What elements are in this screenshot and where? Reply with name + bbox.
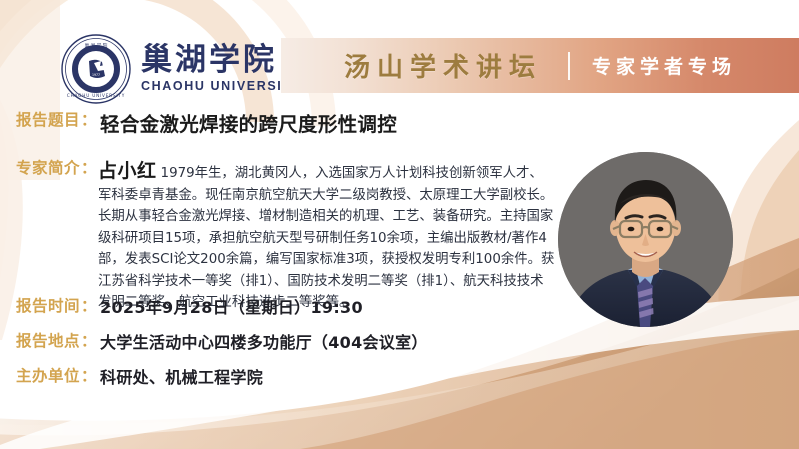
university-name-cn: 巢湖学院 xyxy=(141,45,302,76)
report-place-label: 报告地点 xyxy=(16,329,80,351)
svg-text:1977: 1977 xyxy=(92,73,100,77)
forum-banner-title: 汤山学术讲坛 xyxy=(344,47,542,84)
university-name-en: CHAOHU UNIVERSITY xyxy=(141,80,302,93)
organizer-colon: ： xyxy=(81,364,97,386)
poster-canvas: 巢 湖 学 院 CHAOHU UNIVERSITY 1977 巢湖学院 CHAO… xyxy=(0,0,799,449)
forum-banner: 汤山学术讲坛 专家学者专场 xyxy=(281,38,799,93)
report-place-row: 报告地点 ： 大学生活动中心四楼多功能厅（404会议室） xyxy=(16,329,428,353)
report-time-colon: ： xyxy=(81,294,97,316)
speaker-bio-colon: ： xyxy=(81,156,97,178)
report-place-value: 大学生活动中心四楼多功能厅（404会议室） xyxy=(100,329,428,353)
speaker-bio-row: 专家简介 ： 占小红1979年生，湖北黄冈人，入选国家万人计划科技创新领军人才、… xyxy=(16,156,576,314)
speaker-bio-text: 1979年生，湖北黄冈人，入选国家万人计划科技创新领军人才、军科委卓青基金。现任… xyxy=(98,166,554,310)
speaker-bio-body: 占小红1979年生，湖北黄冈人，入选国家万人计划科技创新领军人才、军科委卓青基金… xyxy=(98,156,556,314)
svg-text:CHAOHU UNIVERSITY: CHAOHU UNIVERSITY xyxy=(67,93,125,98)
report-title-value: 轻合金激光焊接的跨尺度形性调控 xyxy=(100,108,397,137)
report-time-label: 报告时间 xyxy=(16,294,80,316)
speaker-name: 占小红 xyxy=(98,160,157,182)
forum-banner-subtitle: 专家学者专场 xyxy=(592,52,736,79)
speaker-bio-label: 专家简介 xyxy=(16,156,80,178)
svg-text:巢 湖 学 院: 巢 湖 学 院 xyxy=(85,42,108,49)
speaker-portrait xyxy=(558,152,733,327)
report-time-row: 报告时间 ： 2025年9月28日（星期日）19:30 xyxy=(16,294,363,318)
university-identity: 巢 湖 学 院 CHAOHU UNIVERSITY 1977 巢湖学院 CHAO… xyxy=(60,33,302,105)
organizer-value: 科研处、机械工程学院 xyxy=(100,364,263,388)
poster-header: 巢 湖 学 院 CHAOHU UNIVERSITY 1977 巢湖学院 CHAO… xyxy=(0,0,799,104)
report-title-row: 报告题目 ： 轻合金激光焊接的跨尺度形性调控 xyxy=(16,108,397,137)
university-name-block: 巢湖学院 CHAOHU UNIVERSITY xyxy=(141,45,302,93)
report-title-colon: ： xyxy=(81,108,97,130)
banner-divider xyxy=(568,52,570,80)
report-title-label: 报告题目 xyxy=(16,108,80,130)
organizer-label: 主办单位 xyxy=(16,364,80,386)
chaohu-university-seal-icon: 巢 湖 学 院 CHAOHU UNIVERSITY 1977 xyxy=(60,33,132,105)
report-time-value: 2025年9月28日（星期日）19:30 xyxy=(100,294,363,318)
organizer-row: 主办单位 ： 科研处、机械工程学院 xyxy=(16,364,263,388)
report-place-colon: ： xyxy=(81,329,97,351)
